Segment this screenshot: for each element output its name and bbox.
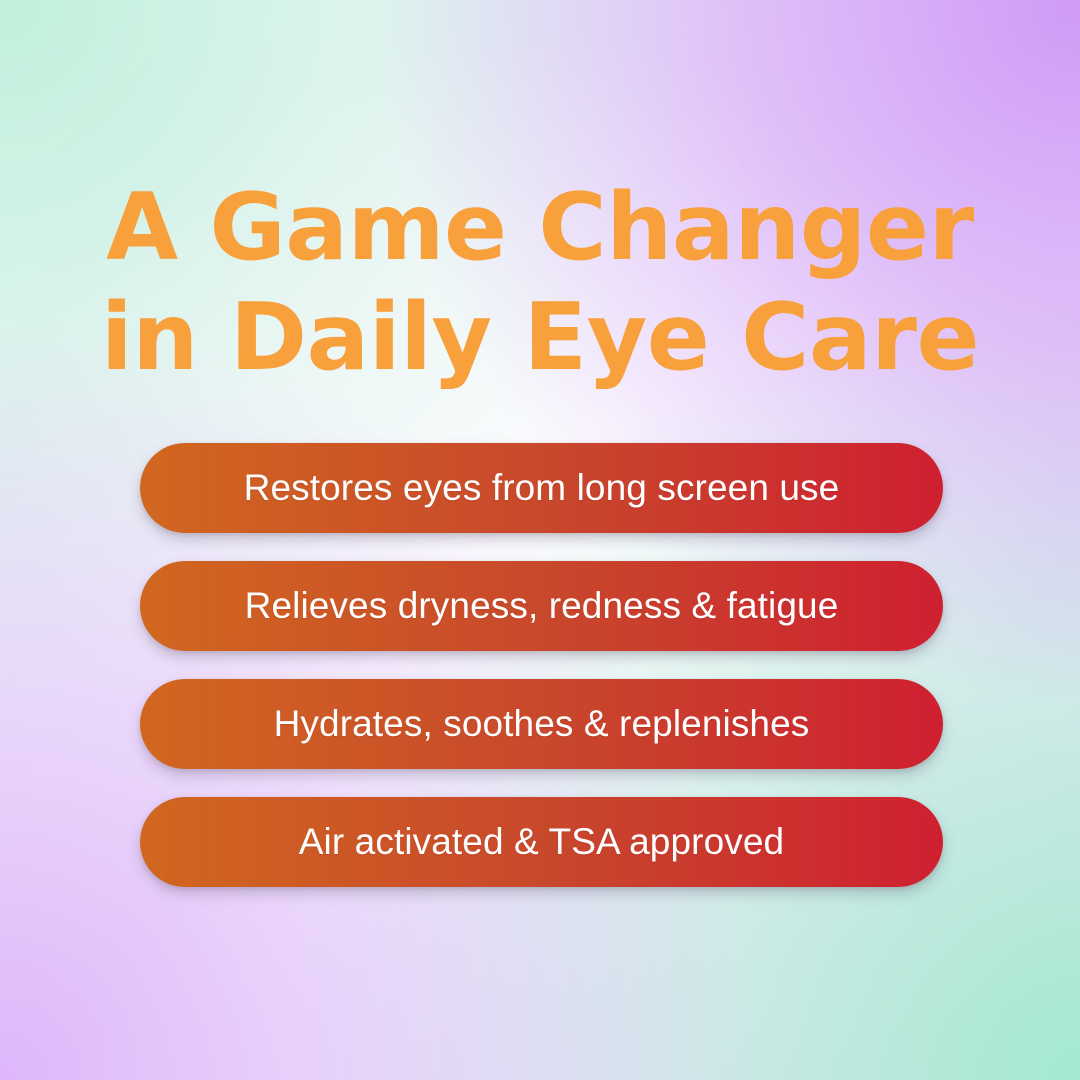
benefit-label: Air activated & TSA approved — [299, 820, 784, 864]
benefit-pill-2: Relieves dryness, redness & fatigue — [140, 561, 943, 651]
page-title: A Game Changer in Daily Eye Care — [0, 172, 1080, 392]
headline-line-2: in Daily Eye Care — [60, 282, 1020, 392]
benefit-pill-4: Air activated & TSA approved — [140, 797, 943, 887]
benefit-label: Restores eyes from long screen use — [244, 466, 840, 510]
benefit-label: Hydrates, soothes & replenishes — [274, 702, 810, 746]
benefit-label: Relieves dryness, redness & fatigue — [245, 584, 839, 628]
benefit-pill-1: Restores eyes from long screen use — [140, 443, 943, 533]
headline-line-1: A Game Changer — [60, 172, 1020, 282]
benefit-list: Restores eyes from long screen use Relie… — [140, 443, 943, 887]
promo-poster: A Game Changer in Daily Eye Care Restore… — [0, 0, 1080, 1080]
benefit-pill-3: Hydrates, soothes & replenishes — [140, 679, 943, 769]
